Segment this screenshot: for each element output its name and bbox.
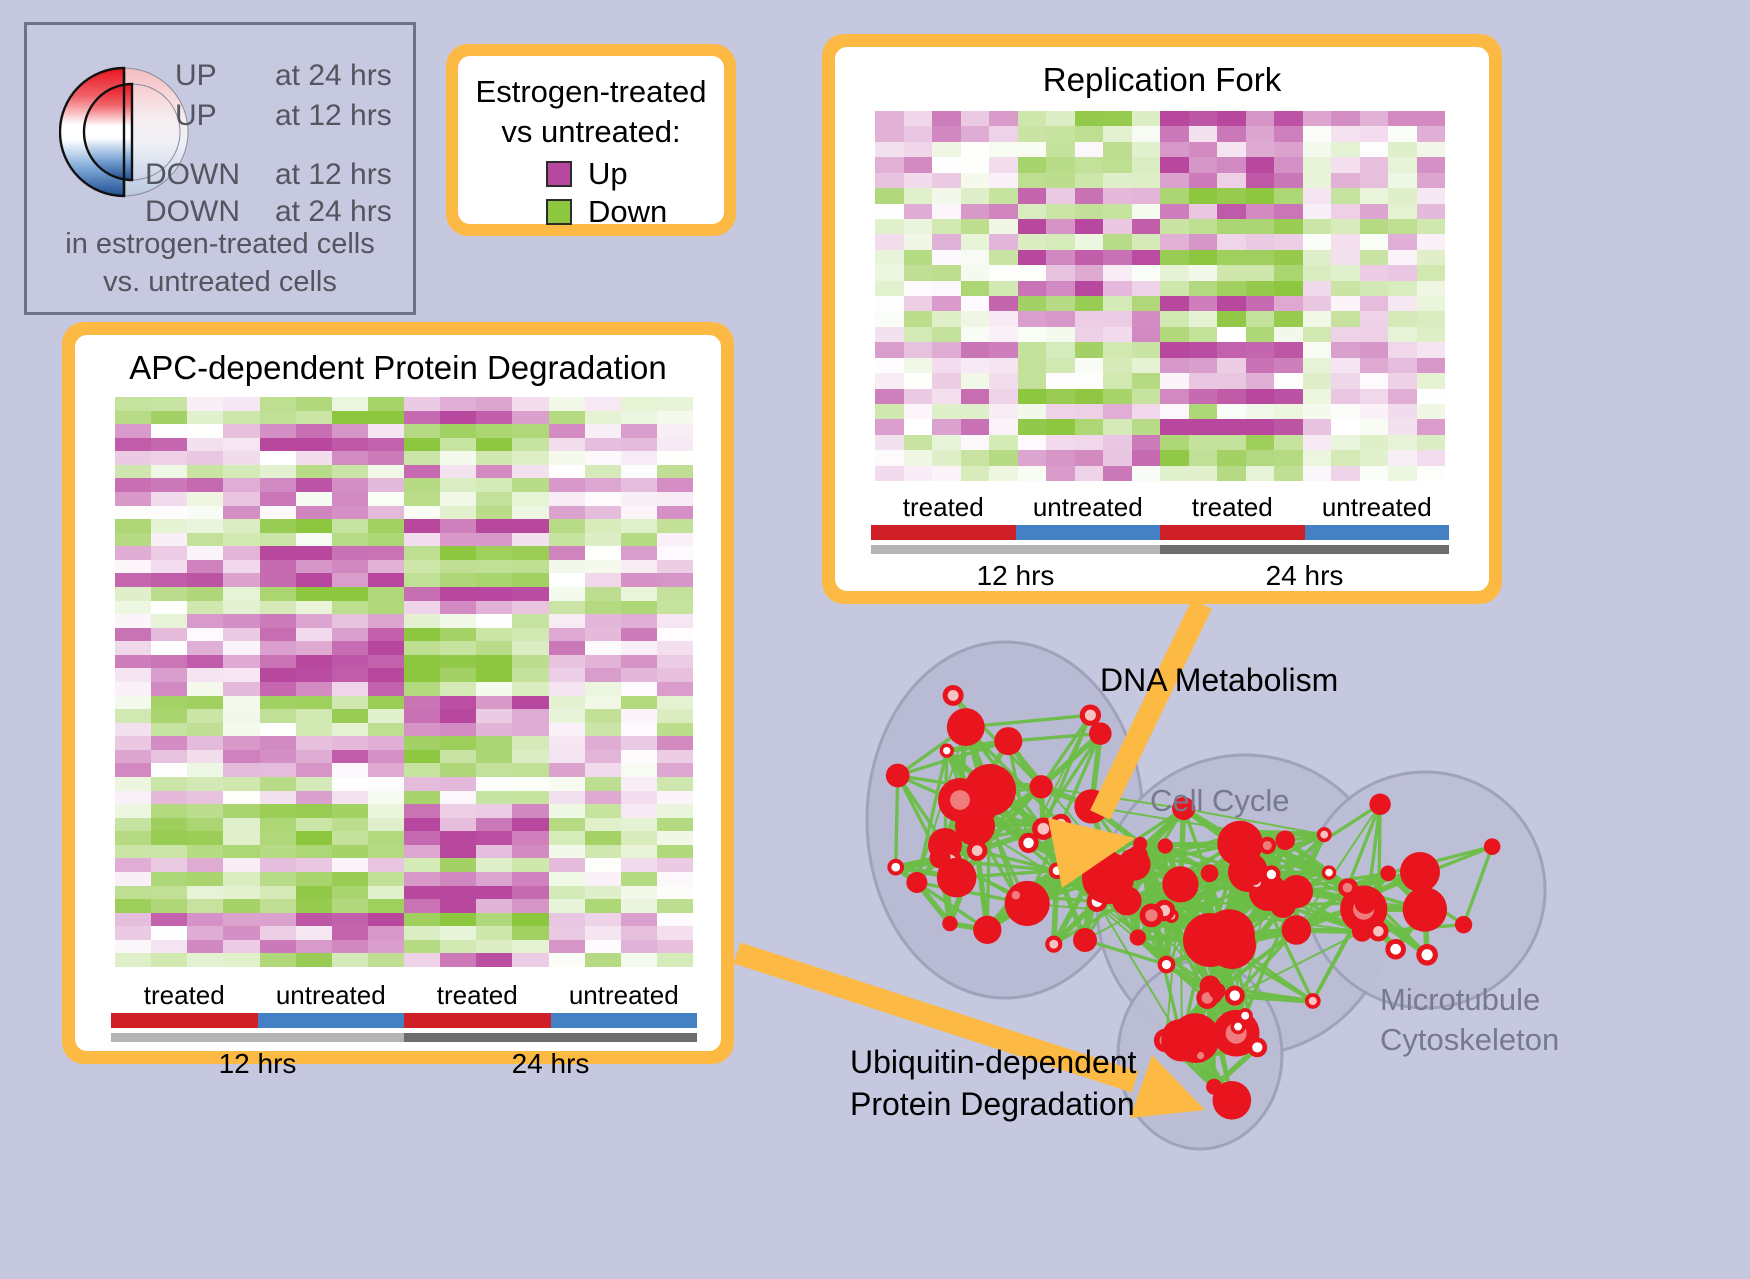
- heatmap-cell: [657, 886, 693, 900]
- network-node[interactable]: [1208, 921, 1256, 969]
- heatmap-cell: [476, 641, 512, 655]
- network-node[interactable]: [1385, 939, 1406, 960]
- heatmap-cell: [1388, 111, 1417, 126]
- heatmap-cell: [115, 506, 151, 520]
- network-node[interactable]: [1162, 1019, 1198, 1055]
- heatmap-cell: [440, 519, 476, 533]
- heatmap-cell: [332, 858, 368, 872]
- heatmap-cell: [904, 342, 933, 357]
- heatmap-cell: [187, 492, 223, 506]
- network-node[interactable]: [1206, 1079, 1222, 1095]
- heatmap-cell: [404, 926, 440, 940]
- network-node[interactable]: [955, 806, 995, 846]
- heatmap-cell: [223, 899, 259, 913]
- network-node[interactable]: [1340, 878, 1358, 896]
- network-node[interactable]: [1162, 866, 1198, 902]
- heatmap-cell: [332, 940, 368, 954]
- heatmap-cell: [875, 142, 904, 157]
- heatmap-cell: [476, 818, 512, 832]
- network-node[interactable]: [1249, 873, 1287, 911]
- network-node[interactable]: [1140, 903, 1164, 927]
- heatmap-cell: [1160, 358, 1189, 373]
- heatmap-cell: [223, 668, 259, 682]
- heatmap-cell: [1246, 173, 1275, 188]
- heatmap-cell: [187, 546, 223, 560]
- network-node[interactable]: [1200, 975, 1221, 996]
- network-node[interactable]: [1154, 1029, 1178, 1053]
- heatmap-cell: [151, 438, 187, 452]
- heatmap-cell: [187, 655, 223, 669]
- network-node[interactable]: [938, 849, 962, 873]
- heatmap-cell: [932, 419, 961, 434]
- heatmap-cell: [332, 655, 368, 669]
- heatmap-cell: [296, 601, 332, 615]
- heatmap-cell: [115, 614, 151, 628]
- heatmap-cell: [1388, 327, 1417, 342]
- heatmap-cell: [332, 465, 368, 479]
- heatmap-cell: [585, 818, 621, 832]
- heatmap-cell: [404, 478, 440, 492]
- network-node[interactable]: [1209, 983, 1226, 1000]
- network-node[interactable]: [1416, 944, 1438, 966]
- heatmap-cell: [404, 641, 440, 655]
- network-node[interactable]: [1128, 845, 1148, 865]
- network-node[interactable]: [1205, 986, 1222, 1003]
- heatmap-cell: [1189, 404, 1218, 419]
- heatmap-cell: [296, 696, 332, 710]
- heatmap-cell: [1274, 250, 1303, 265]
- heatmap-cell: [115, 763, 151, 777]
- heatmap-cell: [1246, 389, 1275, 404]
- network-node[interactable]: [1196, 987, 1218, 1009]
- network-node[interactable]: [1051, 814, 1072, 835]
- network-node[interactable]: [1361, 888, 1377, 904]
- heatmap-cell: [115, 831, 151, 845]
- heatmap-cell: [1331, 296, 1360, 311]
- network-node[interactable]: [1082, 852, 1134, 904]
- heatmap-cell: [657, 777, 693, 791]
- heatmap-cell: [187, 696, 223, 710]
- heatmap-cell: [1160, 281, 1189, 296]
- heatmap-cell: [1132, 327, 1161, 342]
- network-node[interactable]: [1211, 937, 1229, 955]
- network-node[interactable]: [1484, 838, 1501, 855]
- heatmap-cell: [404, 872, 440, 886]
- network-node[interactable]: [1400, 852, 1440, 892]
- network-node[interactable]: [1305, 993, 1321, 1009]
- network-node[interactable]: [1073, 928, 1097, 952]
- heatmap-cell: [961, 311, 990, 326]
- heatmap-cell: [187, 858, 223, 872]
- heatmap-cell: [657, 438, 693, 452]
- heatmap-cell: [1189, 265, 1218, 280]
- heatmap-cell: [1360, 342, 1389, 357]
- heatmap-cell: [1274, 188, 1303, 203]
- replication-fork-panel: Replication Fork treated untreated treat…: [822, 34, 1502, 604]
- heatmap-cell: [1417, 265, 1446, 280]
- heatmap-cell: [585, 940, 621, 954]
- heatmap-cell: [404, 750, 440, 764]
- replication-fork-time-bars: [871, 545, 1449, 554]
- network-node[interactable]: [980, 804, 996, 820]
- network-node[interactable]: [947, 708, 985, 746]
- heatmap-cell: [1417, 142, 1446, 157]
- heatmap-cell: [187, 926, 223, 940]
- network-node[interactable]: [1237, 825, 1252, 840]
- network-node[interactable]: [1049, 862, 1066, 879]
- heatmap-cell: [1189, 142, 1218, 157]
- network-node[interactable]: [1130, 929, 1146, 945]
- heatmap-cell: [1217, 342, 1246, 357]
- heatmap-cell: [657, 953, 693, 967]
- heatmap-cell: [260, 913, 296, 927]
- network-node[interactable]: [1133, 837, 1147, 851]
- network-node[interactable]: [1154, 900, 1176, 922]
- heatmap-cell: [1075, 435, 1104, 450]
- network-node[interactable]: [1275, 830, 1295, 850]
- heatmap-cell: [585, 763, 621, 777]
- heatmap-cell: [989, 373, 1018, 388]
- network-node[interactable]: [1158, 956, 1176, 974]
- heatmap-cell: [151, 791, 187, 805]
- heatmap-cell: [368, 899, 404, 913]
- heatmap-cell: [1018, 173, 1047, 188]
- network-node[interactable]: [937, 858, 977, 898]
- heatmap-cell: [1160, 435, 1189, 450]
- heatmap-cell: [1246, 157, 1275, 172]
- heatmap-cell: [1189, 466, 1218, 481]
- heatmap-cell: [989, 111, 1018, 126]
- heatmap-cell: [1274, 234, 1303, 249]
- heatmap-cell: [621, 451, 657, 465]
- heatmap-cell: [368, 804, 404, 818]
- heatmap-cell: [1303, 373, 1332, 388]
- replication-fork-title: Replication Fork: [835, 61, 1489, 99]
- heatmap-cell: [1246, 373, 1275, 388]
- network-node[interactable]: [942, 916, 957, 931]
- network-node[interactable]: [1340, 886, 1387, 933]
- network-node[interactable]: [1029, 775, 1052, 798]
- heatmap-cell: [1046, 142, 1075, 157]
- heatmap-cell: [260, 777, 296, 791]
- network-node[interactable]: [1403, 887, 1447, 931]
- heatmap-cell: [260, 411, 296, 425]
- heatmap-cell: [332, 411, 368, 425]
- heatmap-cell: [151, 519, 187, 533]
- heatmap-cell: [404, 668, 440, 682]
- network-node[interactable]: [1352, 921, 1372, 941]
- heatmap-cell: [223, 777, 259, 791]
- network-node[interactable]: [1358, 894, 1375, 911]
- heatmap-cell: [1103, 466, 1132, 481]
- network-node[interactable]: [928, 828, 962, 862]
- heatmap-cell: [223, 750, 259, 764]
- network-node[interactable]: [929, 847, 950, 868]
- heatmap-cell: [1417, 234, 1446, 249]
- network-node[interactable]: [1317, 827, 1332, 842]
- network-node[interactable]: [1322, 865, 1337, 880]
- network-node[interactable]: [1045, 936, 1062, 953]
- network-node[interactable]: [973, 916, 1001, 944]
- heatmap-cell: [1075, 373, 1104, 388]
- network-node[interactable]: [978, 807, 994, 823]
- heatmap-cell: [657, 655, 693, 669]
- network-node[interactable]: [1118, 848, 1150, 880]
- heatmap-cell: [1018, 234, 1047, 249]
- heatmap-cell: [1303, 250, 1332, 265]
- heatmap-cell: [1160, 157, 1189, 172]
- heatmap-cell: [549, 424, 585, 438]
- heatmap-cell: [961, 250, 990, 265]
- heatmap-cell: [512, 750, 548, 764]
- heatmap-cell: [1360, 204, 1389, 219]
- heatmap-cell: [621, 696, 657, 710]
- heatmap-cell: [151, 682, 187, 696]
- network-node[interactable]: [1193, 1048, 1207, 1062]
- heatmap-cell: [1274, 358, 1303, 373]
- heatmap-cell: [549, 913, 585, 927]
- heatmap-cell: [989, 265, 1018, 280]
- network-node[interactable]: [940, 744, 954, 758]
- network-node[interactable]: [1248, 874, 1265, 891]
- heatmap-cell: [512, 438, 548, 452]
- heatmap-cell: [115, 872, 151, 886]
- time-label-24hrs: 24 hrs: [1160, 560, 1449, 592]
- heatmap-cell: [223, 763, 259, 777]
- heatmap-cell: [440, 791, 476, 805]
- heatmap-cell: [1103, 435, 1132, 450]
- heatmap-cell: [657, 519, 693, 533]
- network-node[interactable]: [1282, 915, 1312, 945]
- heatmap-cell: [1360, 142, 1389, 157]
- heatmap-cell: [989, 234, 1018, 249]
- heatmap-cell: [440, 641, 476, 655]
- network-node[interactable]: [943, 685, 964, 706]
- heatmap-cell: [932, 466, 961, 481]
- network-node[interactable]: [1080, 704, 1101, 725]
- heatmap-cell: [404, 492, 440, 506]
- network-node[interactable]: [1204, 909, 1255, 960]
- heatmap-cell: [875, 126, 904, 141]
- heatmap-cell: [1388, 219, 1417, 234]
- heatmap-cell: [296, 926, 332, 940]
- network-node[interactable]: [1230, 1019, 1245, 1034]
- network-node[interactable]: [1270, 892, 1296, 918]
- heatmap-cell: [512, 641, 548, 655]
- heatmap-cell: [404, 655, 440, 669]
- legend-row-label-1: UP: [175, 99, 217, 133]
- heatmap-cell: [332, 668, 368, 682]
- network-node[interactable]: [1158, 838, 1173, 853]
- network-node[interactable]: [1005, 881, 1050, 926]
- heatmap-cell: [1046, 173, 1075, 188]
- heatmap-cell: [368, 451, 404, 465]
- network-node[interactable]: [1201, 864, 1219, 882]
- heatmap-cell: [151, 478, 187, 492]
- network-node[interactable]: [1225, 986, 1245, 1006]
- heatmap-cell: [621, 668, 657, 682]
- heatmap-cell: [440, 655, 476, 669]
- heatmap-cell: [476, 763, 512, 777]
- heatmap-cell: [549, 519, 585, 533]
- heatmap-cell: [223, 492, 259, 506]
- heatmap-cell: [440, 533, 476, 547]
- network-node[interactable]: [994, 727, 1022, 755]
- heatmap-cell: [961, 265, 990, 280]
- heatmap-cell: [296, 451, 332, 465]
- network-node[interactable]: [886, 764, 910, 788]
- network-node[interactable]: [887, 859, 904, 876]
- heatmap-cell: [1274, 466, 1303, 481]
- heatmap-cell: [1274, 373, 1303, 388]
- heatmap-cell: [1160, 204, 1189, 219]
- heatmap-cell: [875, 373, 904, 388]
- heatmap-cell: [549, 940, 585, 954]
- heatmap-cell: [1046, 373, 1075, 388]
- network-node[interactable]: [1161, 1020, 1202, 1061]
- network-node[interactable]: [1074, 789, 1108, 823]
- heatmap-cell: [260, 641, 296, 655]
- heatmap-cell: [1217, 450, 1246, 465]
- heatmap-cell: [1160, 265, 1189, 280]
- network-node[interactable]: [1338, 878, 1357, 897]
- network-node[interactable]: [1247, 1038, 1267, 1058]
- heatmap-cell: [1274, 404, 1303, 419]
- heatmap-cell: [296, 804, 332, 818]
- legend-row-time-1: at 12 hrs: [275, 99, 392, 133]
- network-node[interactable]: [1369, 794, 1390, 815]
- heatmap-cell: [151, 465, 187, 479]
- network-node[interactable]: [1089, 722, 1112, 745]
- heatmap-cell: [1388, 389, 1417, 404]
- heatmap-cell: [621, 546, 657, 560]
- network-node[interactable]: [1183, 913, 1237, 967]
- heatmap-cell: [404, 682, 440, 696]
- heatmap-cell: [1303, 265, 1332, 280]
- heatmap-cell: [1189, 157, 1218, 172]
- heatmap-cell: [549, 818, 585, 832]
- heatmap-cell: [1160, 389, 1189, 404]
- network-node[interactable]: [1228, 852, 1268, 892]
- up-swatch: [546, 161, 572, 187]
- heatmap-cell: [512, 601, 548, 615]
- heatmap-cell: [1046, 204, 1075, 219]
- network-node[interactable]: [1262, 865, 1280, 883]
- heatmap-cell: [476, 872, 512, 886]
- heatmap-cell: [1018, 204, 1047, 219]
- heatmap-cell: [932, 311, 961, 326]
- heatmap-cell: [332, 478, 368, 492]
- heatmap-cell: [932, 389, 961, 404]
- network-node[interactable]: [964, 764, 1016, 816]
- network-node[interactable]: [1008, 887, 1024, 903]
- heatmap-cell: [1103, 342, 1132, 357]
- network-node[interactable]: [1085, 868, 1099, 882]
- heatmap-cell: [657, 451, 693, 465]
- network-node[interactable]: [1455, 916, 1472, 933]
- heatmap-cell: [1217, 435, 1246, 450]
- network-node[interactable]: [1112, 886, 1141, 915]
- heatmap-cell: [115, 682, 151, 696]
- heatmap-cell: [1246, 111, 1275, 126]
- heatmap-cell: [476, 696, 512, 710]
- network-node[interactable]: [1368, 921, 1388, 941]
- color-legend-title-line1: Estrogen-treated: [458, 72, 724, 112]
- heatmap-cell: [368, 940, 404, 954]
- network-node[interactable]: [1230, 839, 1248, 857]
- heatmap-cell: [875, 157, 904, 172]
- network-node[interactable]: [1243, 866, 1262, 885]
- network-node[interactable]: [1217, 821, 1263, 867]
- heatmap-cell: [1246, 450, 1275, 465]
- network-node[interactable]: [1280, 875, 1313, 908]
- heatmap-cell: [1274, 219, 1303, 234]
- heatmap-cell: [549, 723, 585, 737]
- heatmap-cell: [115, 804, 151, 818]
- heatmap-cell: [621, 506, 657, 520]
- heatmap-cell: [512, 411, 548, 425]
- network-node[interactable]: [1164, 909, 1178, 923]
- network-node[interactable]: [938, 778, 982, 822]
- network-node[interactable]: [969, 767, 999, 797]
- network-node[interactable]: [1018, 833, 1038, 853]
- heatmap-cell: [961, 234, 990, 249]
- heatmap-cell: [1075, 204, 1104, 219]
- network-node[interactable]: [1380, 865, 1396, 881]
- heatmap-cell: [1331, 157, 1360, 172]
- heatmap-cell: [657, 465, 693, 479]
- network-node[interactable]: [906, 872, 927, 893]
- heatmap-cell: [1331, 311, 1360, 326]
- heatmap-cell: [476, 899, 512, 913]
- heatmap-cell: [1132, 358, 1161, 373]
- network-node[interactable]: [1212, 1081, 1251, 1120]
- network-node[interactable]: [1355, 893, 1376, 914]
- network-node[interactable]: [1259, 837, 1276, 854]
- network-node[interactable]: [1170, 1013, 1220, 1063]
- network-node[interactable]: [1032, 817, 1055, 840]
- network-node[interactable]: [1238, 1008, 1253, 1023]
- network-node[interactable]: [1213, 1010, 1260, 1057]
- heatmap-cell: [904, 142, 933, 157]
- heatmap-cell: [512, 872, 548, 886]
- heatmap-cell: [1217, 204, 1246, 219]
- heatmap-cell: [1160, 419, 1189, 434]
- heatmap-cell: [260, 506, 296, 520]
- heatmap-cell: [332, 614, 368, 628]
- network-node[interactable]: [1087, 891, 1108, 912]
- network-node[interactable]: [1193, 942, 1210, 959]
- heatmap-cell: [621, 397, 657, 411]
- heatmap-cell: [585, 641, 621, 655]
- heatmap-cell: [1189, 435, 1218, 450]
- network-node[interactable]: [1096, 848, 1118, 870]
- heatmap-cell: [440, 478, 476, 492]
- heatmap-cell: [1388, 435, 1417, 450]
- heatmap-cell: [296, 913, 332, 927]
- heatmap-cell: [187, 886, 223, 900]
- network-node[interactable]: [967, 840, 988, 861]
- heatmap-cell: [1246, 296, 1275, 311]
- heatmap-cell: [989, 142, 1018, 157]
- heatmap-cell: [368, 465, 404, 479]
- heatmap-cell: [1331, 389, 1360, 404]
- heatmap-cell: [549, 682, 585, 696]
- heatmap-cell: [260, 546, 296, 560]
- heatmap-cell: [989, 435, 1018, 450]
- heatmap-cell: [1417, 342, 1446, 357]
- heatmap-cell: [1417, 157, 1446, 172]
